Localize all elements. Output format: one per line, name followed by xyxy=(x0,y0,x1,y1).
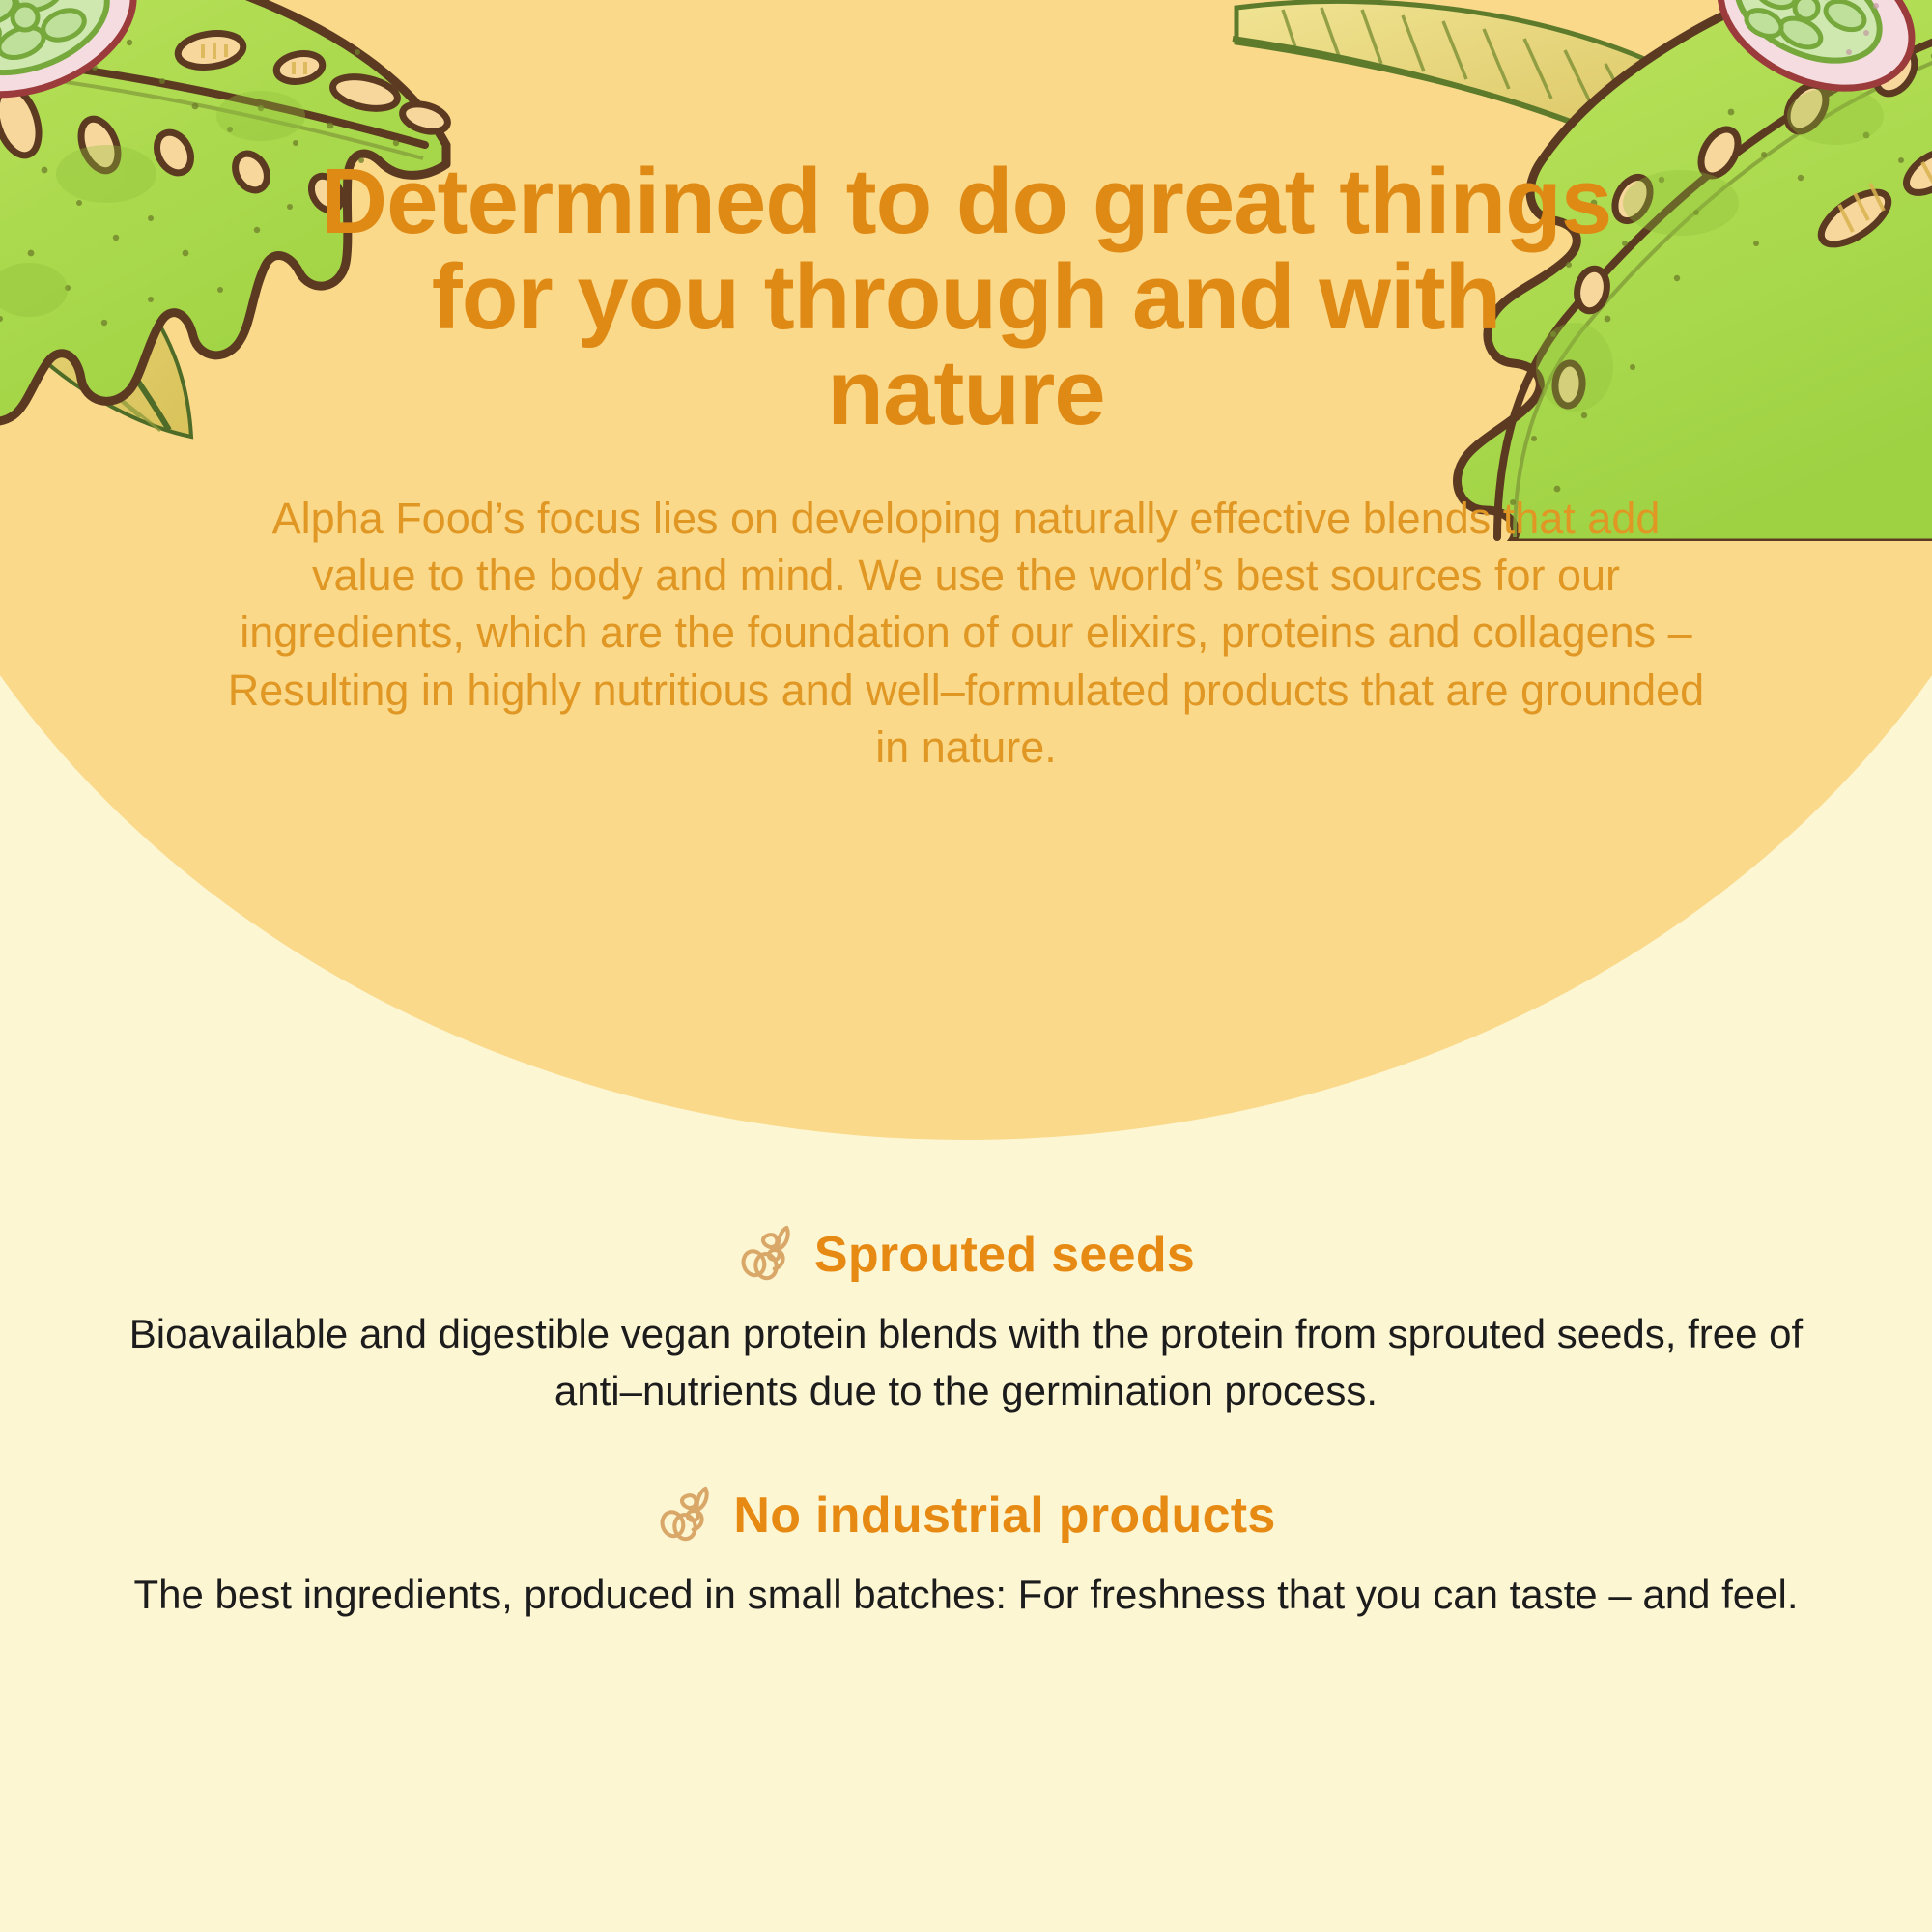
feature-item-sprouted-seeds: Sprouted seeds Bioavailable and digestib… xyxy=(0,1225,1932,1420)
promo-page: Determined to do great things for you th… xyxy=(0,0,1932,1932)
feature-heading: No industrial products xyxy=(0,1486,1932,1546)
feature-item-no-industrial-products: No industrial products The best ingredie… xyxy=(0,1486,1932,1624)
feature-heading: Sprouted seeds xyxy=(0,1225,1932,1285)
page-title: Determined to do great things for you th… xyxy=(0,155,1932,441)
hero-text-block: Determined to do great things for you th… xyxy=(0,155,1932,777)
hero-description: Alpha Food’s focus lies on developing na… xyxy=(0,490,1932,777)
feature-title: No industrial products xyxy=(733,1491,1275,1541)
feature-list: Sprouted seeds Bioavailable and digestib… xyxy=(0,1225,1932,1623)
feature-description: The best ingredients, produced in small … xyxy=(0,1567,1932,1624)
sprout-icon xyxy=(656,1486,716,1546)
feature-description: Bioavailable and digestible vegan protei… xyxy=(0,1306,1932,1420)
sprout-icon xyxy=(737,1225,797,1285)
feature-title: Sprouted seeds xyxy=(814,1230,1195,1280)
